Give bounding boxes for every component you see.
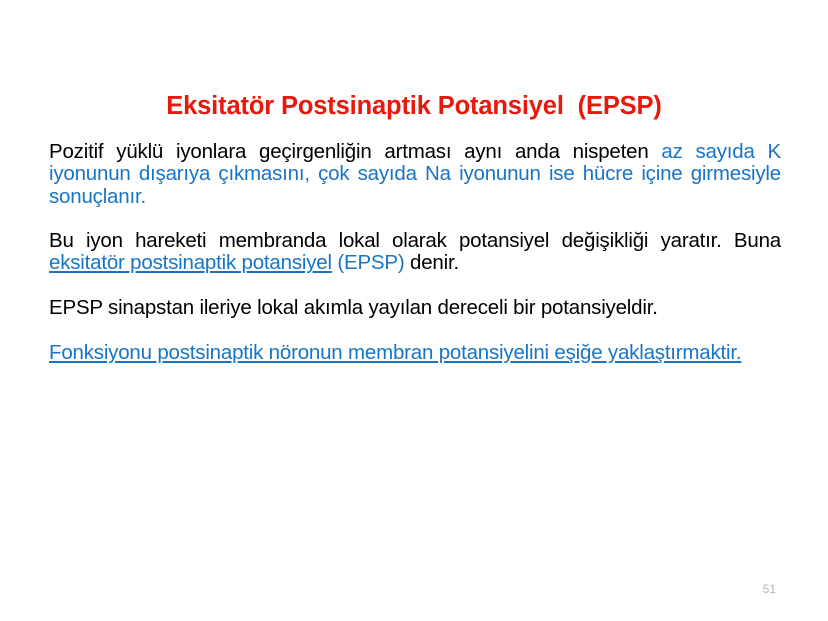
paragraph-2-blue-underlined-term: eksitatör postsinaptik potansiyel bbox=[49, 251, 332, 274]
slide-title: Eksitatör Postsinaptik Potansiyel (EPSP) bbox=[0, 92, 828, 120]
paragraph-3-text: EPSP sinapstan ileriye lokal akımla yayı… bbox=[49, 296, 658, 319]
page-number: 51 bbox=[763, 583, 776, 595]
paragraph-3: EPSP sinapstan ileriye lokal akımla yayı… bbox=[49, 297, 781, 319]
paragraph-1: Pozitif yüklü iyonlara geçirgenliğin art… bbox=[49, 141, 781, 208]
paragraph-2-black-tail: denir. bbox=[405, 251, 459, 274]
paragraph-2: Bu iyon hareketi membranda lokal olarak … bbox=[49, 230, 781, 275]
paragraph-2-blue-abbreviation: (EPSP) bbox=[332, 251, 405, 274]
slide-canvas: Eksitatör Postsinaptik Potansiyel (EPSP)… bbox=[0, 0, 828, 621]
slide-body: Pozitif yüklü iyonlara geçirgenliğin art… bbox=[49, 141, 781, 364]
paragraph-2-black-lead: Bu iyon hareketi membranda lokal olarak … bbox=[49, 229, 781, 252]
paragraph-4-blue-underlined-text: Fonksiyonu postsinaptik nöronun membran … bbox=[49, 341, 741, 364]
paragraph-1-black-lead: Pozitif yüklü iyonlara geçirgenliğin art… bbox=[49, 140, 661, 163]
paragraph-4: Fonksiyonu postsinaptik nöronun membran … bbox=[49, 342, 781, 364]
